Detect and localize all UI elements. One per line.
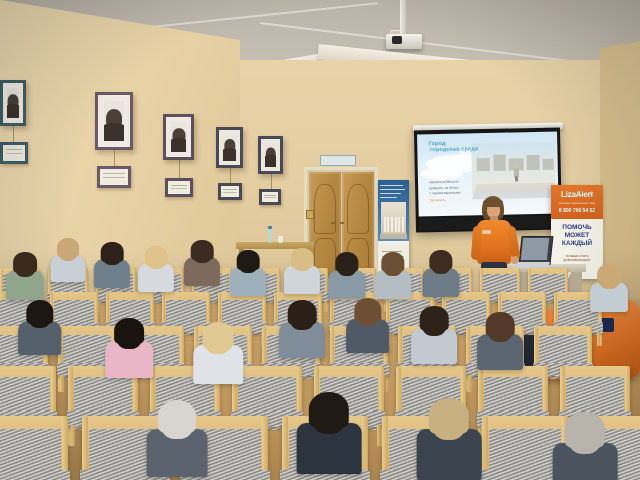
attendee-21 [420, 398, 478, 480]
chair-leg [60, 375, 63, 392]
attendee-14 [196, 322, 240, 384]
attendee-7 [286, 248, 318, 294]
attendee-22 [556, 412, 614, 480]
attendee-2 [52, 238, 83, 282]
chair-seat [0, 470, 70, 480]
chair-leg [324, 301, 326, 312]
attendee-15 [282, 300, 323, 358]
attendee-hair [429, 398, 469, 434]
attendee-16 [348, 298, 387, 353]
attendee-20 [300, 392, 358, 474]
attendee-hair [381, 252, 404, 272]
attendee-hair [565, 412, 605, 448]
chair-leg [377, 425, 381, 446]
attendee-hair [191, 240, 214, 260]
attendee-hair [335, 252, 358, 272]
attendee-hair [158, 400, 196, 433]
attendee-4 [140, 246, 172, 292]
attendee-17 [414, 306, 455, 364]
attendee-12 [20, 300, 59, 355]
attendee-11 [592, 264, 626, 312]
room-photo: Город городская среда Научите ребёнка не… [0, 0, 640, 480]
attendee-hair [420, 306, 449, 331]
attendee-8 [330, 252, 363, 299]
attendee-18 [480, 312, 521, 370]
attendee-hair [354, 298, 381, 322]
attendee-hair [114, 318, 144, 344]
attendee-hair [13, 252, 37, 273]
attendee-1 [8, 252, 42, 300]
attendee-hair [309, 392, 349, 428]
attendee-19 [150, 400, 204, 477]
chair-leg [468, 375, 471, 392]
attendee-hair [486, 312, 515, 337]
attendee-hair [288, 300, 317, 325]
chair-leg [71, 425, 75, 446]
chair-leg [597, 332, 600, 346]
chair[interactable] [0, 416, 68, 480]
attendee-9 [376, 252, 409, 299]
audience-seating [0, 0, 640, 480]
attendee-hair [57, 238, 79, 257]
attendee-hair [237, 250, 260, 270]
attendee-hair [101, 242, 124, 262]
attendee-hair [291, 248, 314, 268]
attendee-5 [186, 240, 218, 286]
attendee-hair [203, 322, 234, 349]
attendee-6 [232, 250, 264, 296]
attendee-hair [597, 264, 621, 285]
attendee-hair [429, 250, 452, 270]
attendee-13 [108, 318, 151, 378]
attendee-3 [96, 242, 128, 288]
attendee-hair [145, 246, 168, 266]
attendee-10 [424, 250, 457, 297]
attendee-hair [26, 300, 53, 324]
